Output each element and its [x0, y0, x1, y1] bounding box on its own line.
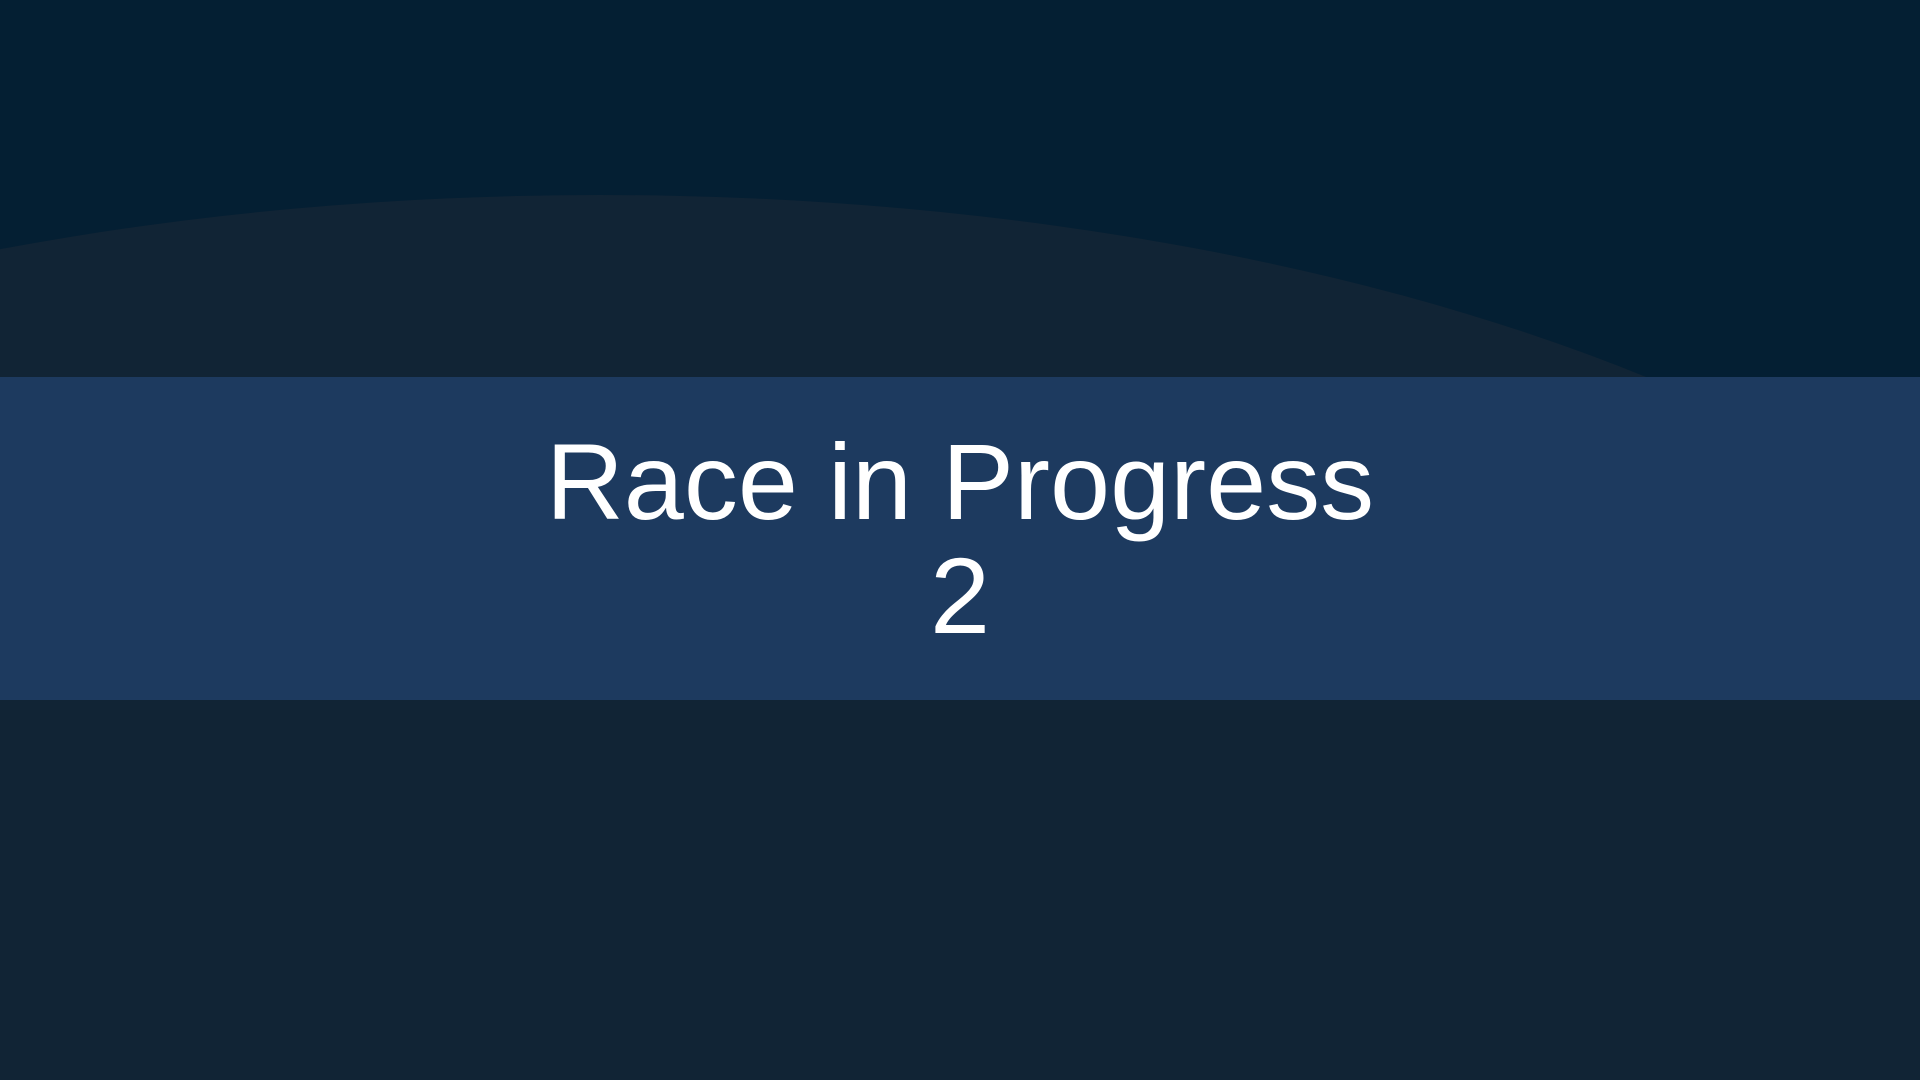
status-title: Race in Progress — [546, 425, 1374, 538]
status-band: Race in Progress 2 — [0, 377, 1920, 700]
status-value: 2 — [930, 539, 990, 652]
race-status-screen: Race in Progress 2 — [0, 0, 1920, 1080]
